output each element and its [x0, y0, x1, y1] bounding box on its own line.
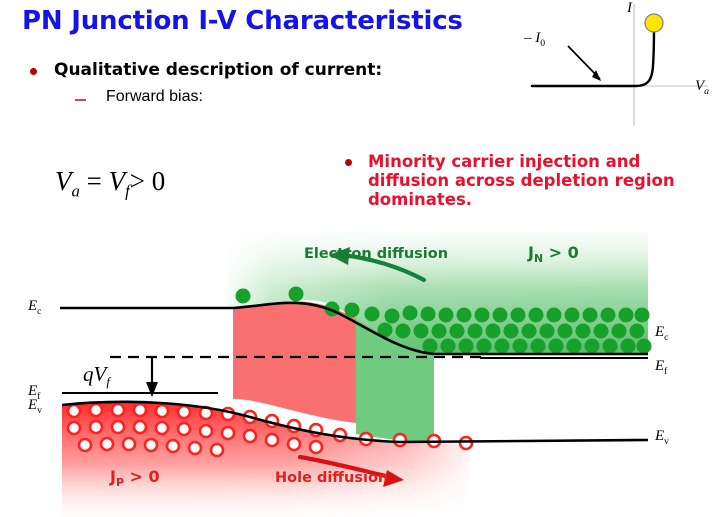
iv-curve-svg [512, 0, 720, 130]
label-electron-diffusion: Electron diffusion [304, 246, 448, 262]
bullet-label: Qualitative description of current: [54, 60, 382, 80]
subbullet-label: Forward bias: [106, 88, 203, 106]
page-title: PN Junction I-V Characteristics [22, 6, 463, 36]
iv-diode-curve [532, 30, 654, 86]
iv-label-saturation-current: – I0 [524, 30, 545, 49]
label-hole-current-density: JP > 0 [110, 467, 160, 489]
equation-comparison: > 0 [130, 166, 165, 196]
bullet-label: Minority carrier injection and diffusion… [368, 152, 678, 209]
equation-lhs-sub: a [72, 181, 80, 200]
bullet-dot-icon [30, 68, 37, 75]
label-hole-diffusion: Hole diffusion [275, 470, 388, 486]
label-ef-right: Ef [655, 358, 667, 377]
bullet-item-qualitative: Qualitative description of current: [30, 60, 382, 80]
iv-axis-label-current: I [627, 0, 632, 17]
iv-axis-label-voltage: Va [695, 78, 709, 97]
label-qvf: qVf [83, 362, 110, 390]
slide-canvas: PN Junction I-V Characteristics Qualitat… [0, 0, 720, 517]
equation-equals: = [87, 166, 102, 196]
label-ec-right: Ec [655, 324, 668, 343]
label-ev-left: Ev [28, 397, 42, 416]
iv-operating-point-marker [645, 14, 663, 32]
bullet-item-minority-carrier: Minority carrier injection and diffusion… [345, 152, 678, 209]
depletion-bars [233, 307, 356, 427]
equation-lhs-var: V [55, 166, 72, 196]
subbullet-item-forward-bias: Forward bias: [75, 88, 203, 106]
label-ev-right: Ev [655, 428, 669, 447]
bullet-dash-icon [75, 99, 86, 101]
equation-rhs-var: V [109, 166, 126, 196]
label-ec-left: Ec [28, 298, 41, 317]
label-electron-current-density: JN > 0 [528, 243, 579, 265]
qvf-arrowhead [146, 382, 158, 397]
equation-forward-bias: Va = Vf> 0 [55, 166, 165, 201]
iv-curve-inset: I Va – I0 [512, 0, 720, 130]
bullet-dot-icon [345, 159, 352, 166]
